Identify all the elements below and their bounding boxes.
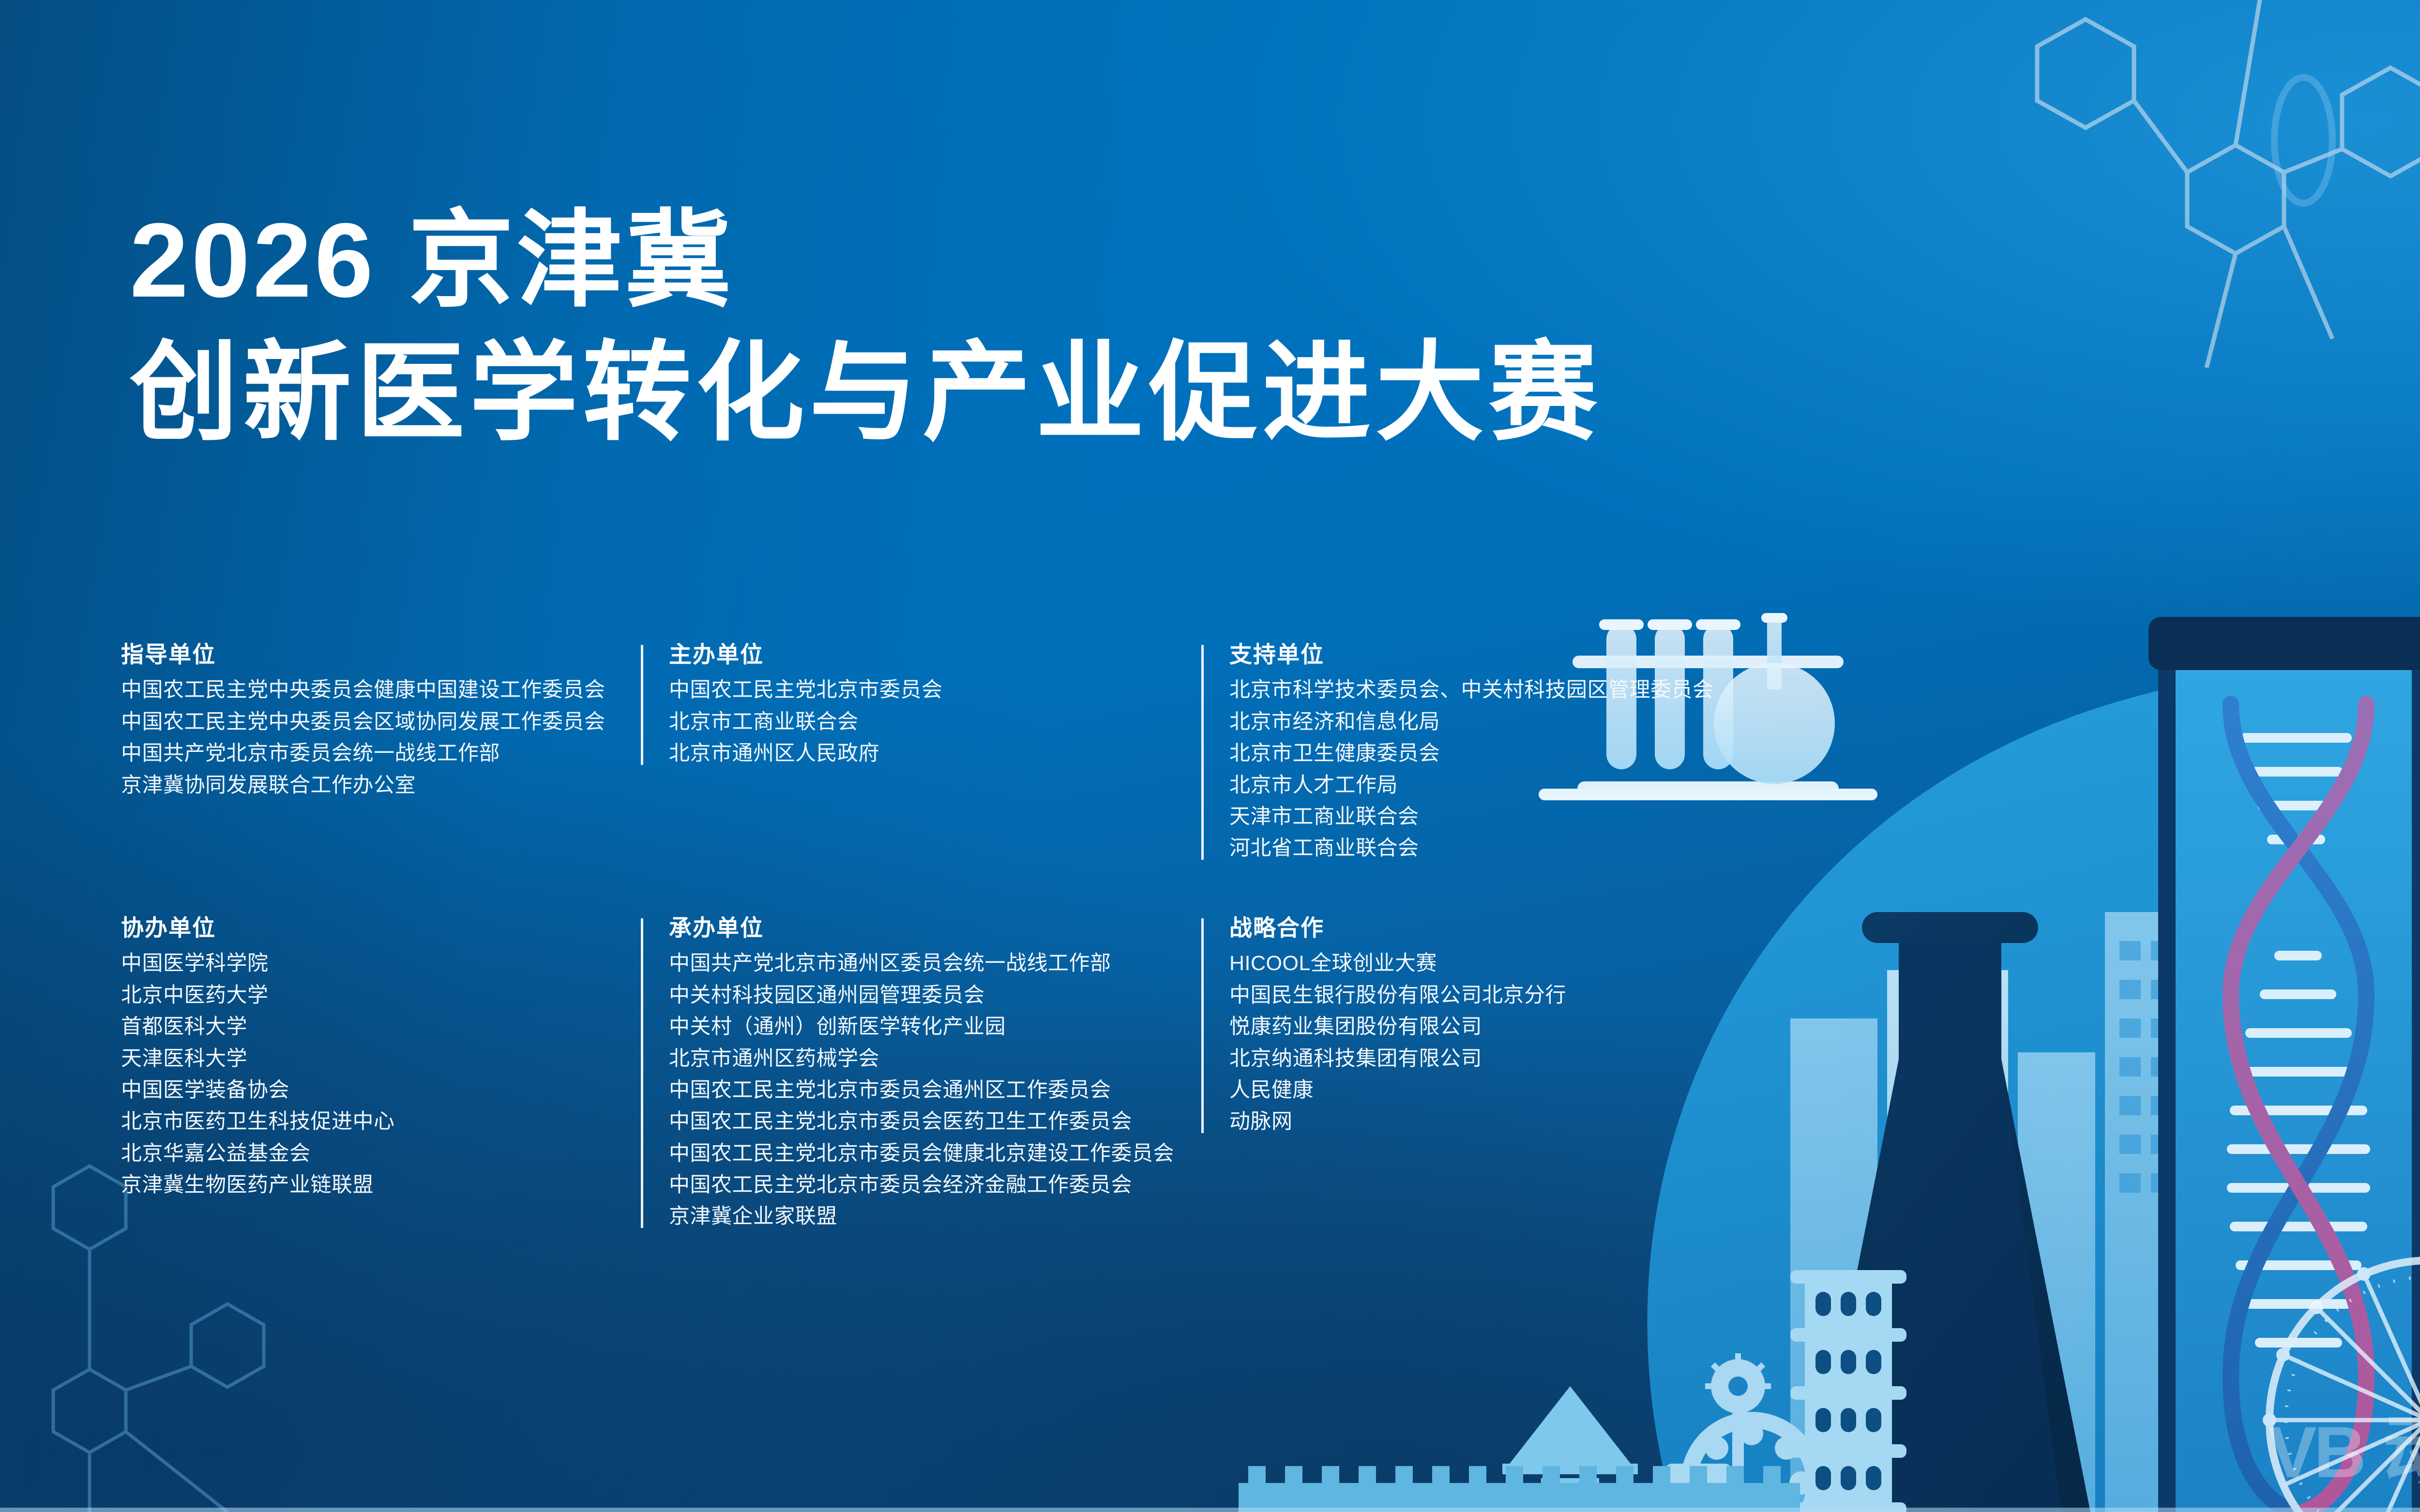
list-item: 人民健康 — [1229, 1075, 1566, 1106]
org-block-host-title: 主办单位 — [669, 641, 943, 668]
column-divider — [641, 918, 643, 1228]
list-item: 悦康药业集团股份有限公司 — [1229, 1011, 1566, 1043]
bottom-rule — [0, 1508, 2420, 1512]
org-block-host: 主办单位 中国农工民主党北京市委员会 北京市工商业联合会 北京市通州区人民政府 — [669, 641, 943, 770]
org-block-support: 支持单位 北京市科学技术委员会、中关村科技园区管理委员会 北京市经济和信息化局 … — [1229, 641, 1714, 865]
list-item: 北京市医药卫生科技促进中心 — [121, 1106, 395, 1138]
list-item: 京津冀企业家联盟 — [669, 1201, 1174, 1232]
list-item: 北京中医药大学 — [121, 980, 395, 1011]
list-item: 北京市通州区药械学会 — [669, 1043, 1174, 1075]
column-divider — [1201, 645, 1204, 860]
list-item: 京津冀生物医药产业链联盟 — [121, 1169, 395, 1201]
org-block-organizer-list: 中国共产党北京市通州区委员会统一战线工作部 中关村科技园区通州园管理委员会 中关… — [669, 948, 1174, 1232]
org-block-guide-title: 指导单位 — [121, 641, 605, 668]
org-block-guide: 指导单位 中国农工民主党中央委员会健康中国建设工作委员会 中国农工民主党中央委员… — [121, 641, 605, 801]
org-block-coorganizer-list: 中国医学科学院 北京中医药大学 首都医科大学 天津医科大学 中国医学装备协会 北… — [121, 948, 395, 1201]
list-item: 中国农工民主党北京市委员会通州区工作委员会 — [669, 1075, 1174, 1106]
list-item: 中国农工民主党北京市委员会 — [669, 674, 943, 706]
list-item: 中国民生银行股份有限公司北京分行 — [1229, 980, 1566, 1011]
poster-title: 2026 京津冀 创新医学转化与产业促进大赛 — [130, 208, 2163, 447]
list-item: 北京市卫生健康委员会 — [1229, 738, 1714, 769]
list-item: 北京市经济和信息化局 — [1229, 706, 1714, 738]
watermark-logo-mark: VB — [2269, 1416, 2363, 1488]
column-divider — [641, 645, 643, 765]
list-item: 中关村科技园区通州园管理委员会 — [669, 980, 1174, 1011]
list-item: 北京华嘉公益基金会 — [121, 1138, 395, 1169]
list-item: 中关村（通州）创新医学转化产业园 — [669, 1011, 1174, 1043]
list-item: 中国医学科学院 — [121, 948, 395, 979]
org-block-organizer: 承办单位 中国共产党北京市通州区委员会统一战线工作部 中关村科技园区通州园管理委… — [669, 914, 1174, 1233]
list-item: 中国农工民主党北京市委员会医药卫生工作委员会 — [669, 1106, 1174, 1138]
list-item: 河北省工商业联合会 — [1229, 833, 1714, 864]
list-item: 京津冀协同发展联合工作办公室 — [121, 770, 605, 801]
list-item: 北京市科学技术委员会、中关村科技园区管理委员会 — [1229, 674, 1714, 706]
org-block-strategic-title: 战略合作 — [1229, 914, 1566, 941]
list-item: 中国农工民主党中央委员会区域协同发展工作委员会 — [121, 706, 605, 738]
org-block-organizer-title: 承办单位 — [669, 914, 1174, 941]
title-line-2: 创新医学转化与产业促进大赛 — [130, 339, 2163, 447]
org-block-host-list: 中国农工民主党北京市委员会 北京市工商业联合会 北京市通州区人民政府 — [669, 674, 943, 769]
title-line-1: 2026 京津冀 — [130, 208, 2163, 314]
watermark: VB 动脉网 — [2269, 1411, 2420, 1493]
org-block-coorganizer-title: 协办单位 — [121, 914, 395, 941]
list-item: 中国共产党北京市委员会统一战线工作部 — [121, 738, 605, 769]
column-divider — [1201, 918, 1204, 1133]
list-item: 北京纳通科技集团有限公司 — [1229, 1043, 1566, 1075]
list-item: 天津市工商业联合会 — [1229, 801, 1714, 833]
list-item: 中国农工民主党中央委员会健康中国建设工作委员会 — [121, 674, 605, 706]
list-item: 北京市人才工作局 — [1229, 770, 1714, 801]
list-item: 天津医科大学 — [121, 1043, 395, 1075]
list-item: 中国农工民主党北京市委员会健康北京建设工作委员会 — [669, 1138, 1174, 1169]
org-block-coorganizer: 协办单位 中国医学科学院 北京中医药大学 首都医科大学 天津医科大学 中国医学装… — [121, 914, 395, 1201]
poster-root: 2026 京津冀 创新医学转化与产业促进大赛 指导单位 中国农工民主党中央委员会… — [0, 0, 2420, 1512]
organizations-area: 指导单位 中国农工民主党中央委员会健康中国建设工作委员会 中国农工民主党中央委员… — [121, 641, 1873, 1318]
list-item: 首都医科大学 — [121, 1011, 395, 1043]
list-item: HICOOL全球创业大赛 — [1229, 948, 1566, 979]
org-block-support-list: 北京市科学技术委员会、中关村科技园区管理委员会 北京市经济和信息化局 北京市卫生… — [1229, 674, 1714, 864]
watermark-brand-text: 动脉网 — [2383, 1411, 2420, 1493]
list-item: 中国医学装备协会 — [121, 1075, 395, 1106]
list-item: 动脉网 — [1229, 1106, 1566, 1138]
list-item: 中国农工民主党北京市委员会经济金融工作委员会 — [669, 1169, 1174, 1201]
org-block-support-title: 支持单位 — [1229, 641, 1714, 668]
list-item: 北京市工商业联合会 — [669, 706, 943, 738]
list-item: 北京市通州区人民政府 — [669, 738, 943, 769]
org-block-guide-list: 中国农工民主党中央委员会健康中国建设工作委员会 中国农工民主党中央委员会区域协同… — [121, 674, 605, 801]
org-block-strategic: 战略合作 HICOOL全球创业大赛 中国民生银行股份有限公司北京分行 悦康药业集… — [1229, 914, 1566, 1138]
list-item: 中国共产党北京市通州区委员会统一战线工作部 — [669, 948, 1174, 979]
org-block-strategic-list: HICOOL全球创业大赛 中国民生银行股份有限公司北京分行 悦康药业集团股份有限… — [1229, 948, 1566, 1138]
